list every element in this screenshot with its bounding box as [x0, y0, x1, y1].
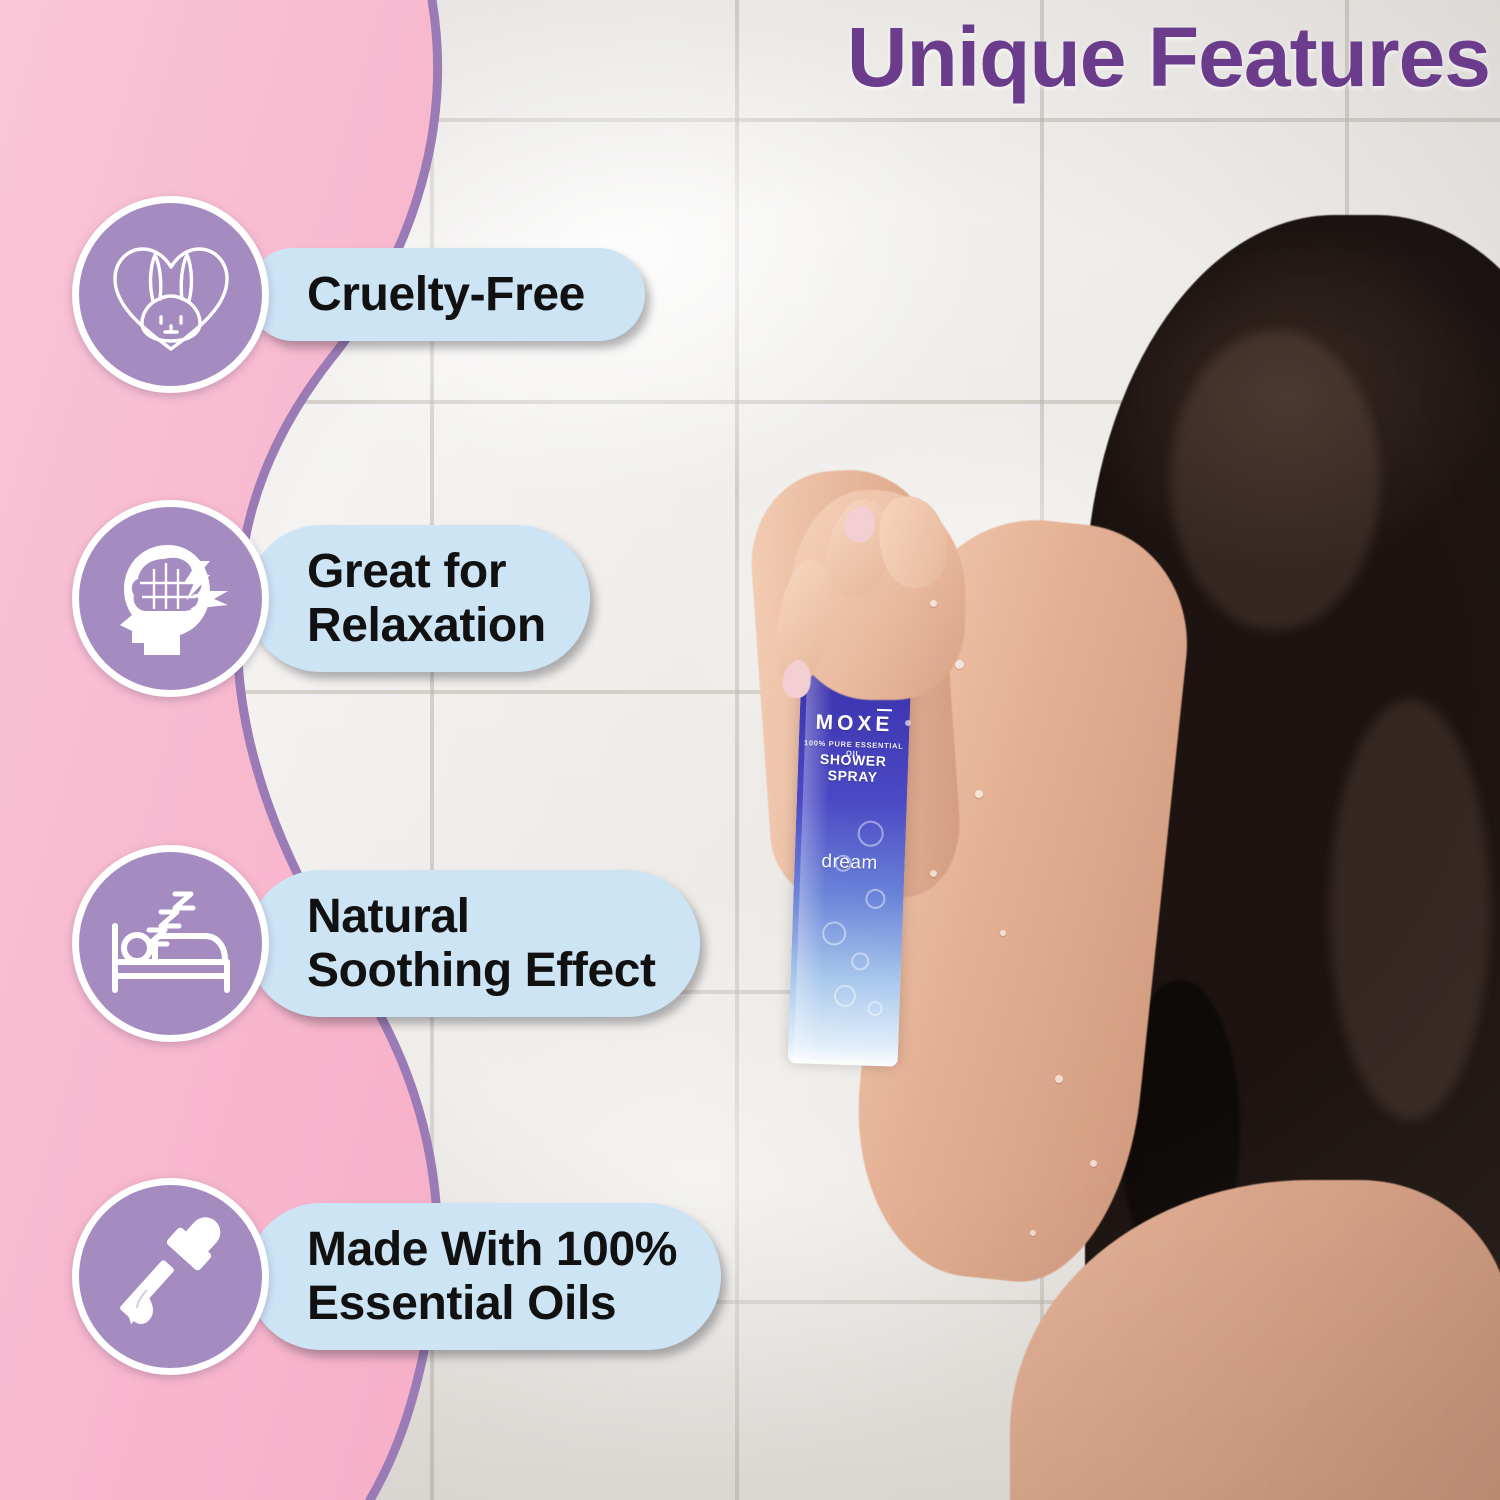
badge-essential-oils — [72, 1178, 269, 1375]
badge-cruelty-free — [72, 196, 269, 393]
feature-label-cruelty-free: Cruelty-Free — [307, 268, 585, 322]
pill-relaxation: Great for Relaxation — [247, 525, 590, 673]
feature-label-soothing: Natural Soothing Effect — [307, 890, 656, 998]
feature-row-essential-oils: Made With 100% Essential Oils — [72, 1178, 721, 1375]
dropper-pipette-icon — [109, 1212, 233, 1342]
infographic-canvas: MOXE 100% PURE ESSENTIAL OIL SHOWER SPRA… — [0, 0, 1500, 1500]
badge-soothing — [72, 845, 269, 1042]
feature-label-essential-oils: Made With 100% Essential Oils — [307, 1223, 677, 1331]
feature-row-cruelty-free: Cruelty-Free — [72, 196, 645, 393]
feature-row-soothing: Natural Soothing Effect — [72, 845, 700, 1042]
head-brain-lightning-icon — [106, 539, 236, 659]
badge-relaxation — [72, 500, 269, 697]
bed-sleep-zzz-icon — [105, 886, 237, 1002]
bunny-in-heart-icon — [107, 233, 235, 357]
page-title: Unique Features — [660, 10, 1490, 104]
pill-essential-oils: Made With 100% Essential Oils — [247, 1203, 721, 1351]
feature-label-relaxation: Great for Relaxation — [307, 545, 546, 653]
pill-cruelty-free: Cruelty-Free — [247, 248, 645, 342]
pill-soothing: Natural Soothing Effect — [247, 870, 700, 1018]
feature-row-relaxation: Great for Relaxation — [72, 500, 590, 697]
